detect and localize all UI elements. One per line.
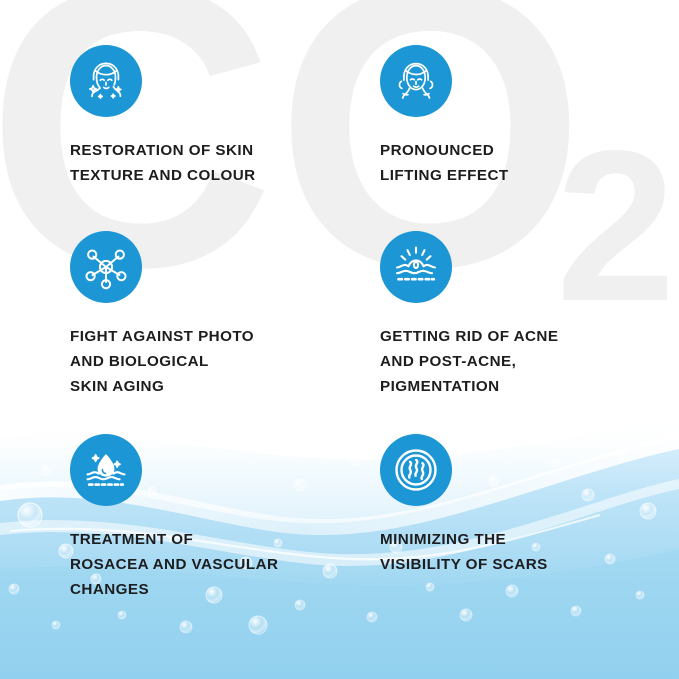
benefit-label: FIGHT AGAINST PHOTO AND BIOLOGICAL SKIN … [70, 324, 370, 399]
benefit-label: GETTING RID OF ACNE AND POST-ACNE, PIGME… [380, 324, 679, 399]
molecule-icon [70, 231, 142, 303]
benefits-grid: RESTORATION OF SKIN TEXTURE AND COLOUR [0, 0, 679, 679]
infographic-page: CO 2 [0, 0, 679, 679]
face-lifting-icon [380, 45, 452, 117]
benefit-label: TREATMENT OF ROSACEA AND VASCULAR CHANGE… [70, 527, 370, 602]
face-sparkle-icon [70, 45, 142, 117]
benefit-item-restoration[interactable]: RESTORATION OF SKIN TEXTURE AND COLOUR [70, 45, 370, 188]
benefit-label: RESTORATION OF SKIN TEXTURE AND COLOUR [70, 138, 370, 188]
acne-skin-layers-icon [380, 231, 452, 303]
benefit-item-rosacea[interactable]: TREATMENT OF ROSACEA AND VASCULAR CHANGE… [70, 434, 370, 602]
benefit-item-scars[interactable]: MINIMIZING THE VISIBILITY OF SCARS [380, 434, 679, 577]
benefit-item-acne[interactable]: GETTING RID OF ACNE AND POST-ACNE, PIGME… [380, 231, 679, 399]
benefit-label: PRONOUNCED LIFTING EFFECT [380, 138, 679, 188]
scar-circle-icon [380, 434, 452, 506]
water-drop-skin-icon [70, 434, 142, 506]
benefit-item-lifting[interactable]: PRONOUNCED LIFTING EFFECT [380, 45, 679, 188]
benefit-label: MINIMIZING THE VISIBILITY OF SCARS [380, 527, 679, 577]
benefit-item-antiaging[interactable]: FIGHT AGAINST PHOTO AND BIOLOGICAL SKIN … [70, 231, 370, 399]
